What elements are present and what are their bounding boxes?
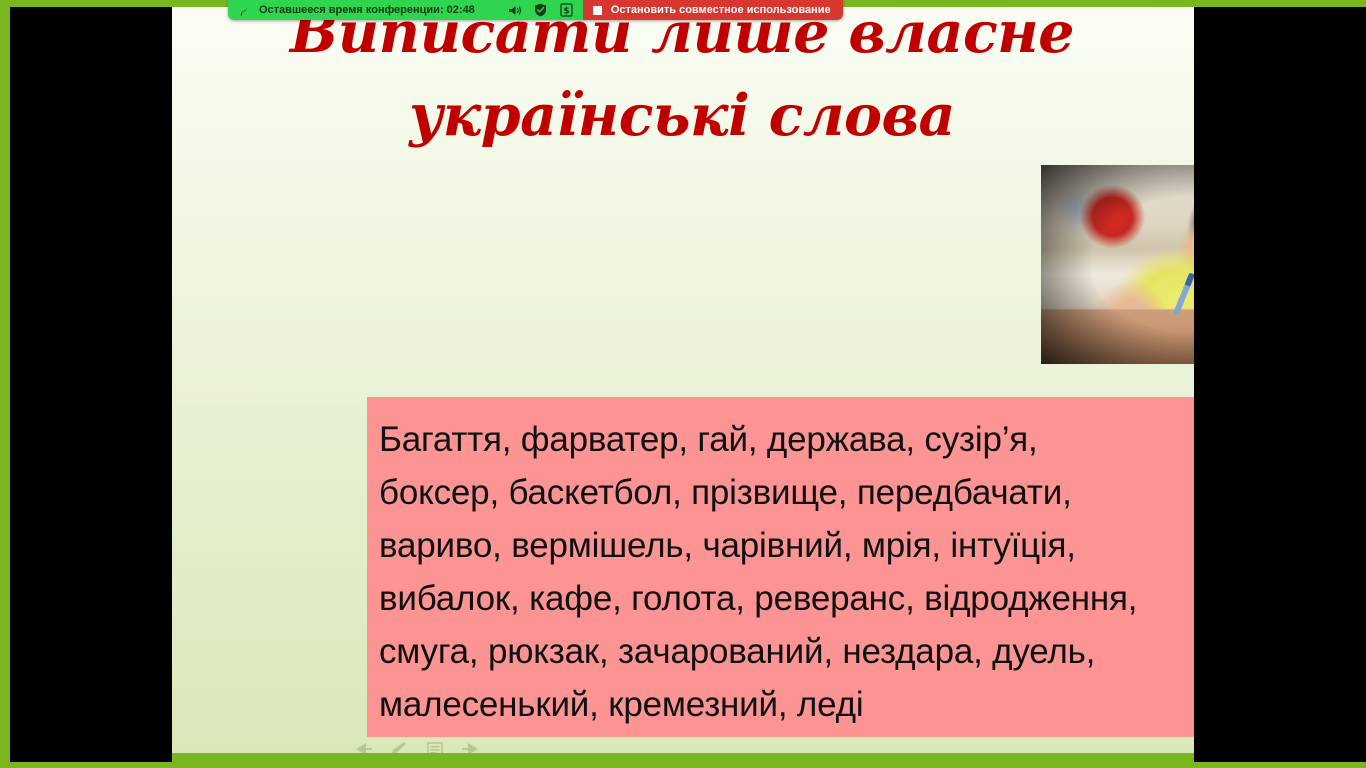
leaf-icon <box>238 4 250 17</box>
presentation-slide[interactable]: Виписати лише власне українські слова Ба… <box>172 0 1194 762</box>
cost-dollar-icon[interactable]: $ <box>558 3 575 18</box>
classroom-girl-writing-photo <box>1041 165 1194 364</box>
slide-accent-bar <box>172 753 1194 762</box>
slide-title: Виписати лише власне українські слова <box>232 0 1132 157</box>
word-list-panel: Багаття, фарватер, гай, держава, сузір’я… <box>367 397 1194 737</box>
screen-share-border-left <box>0 0 10 768</box>
svg-text:$: $ <box>563 7 569 17</box>
photo-image-content <box>1041 165 1194 364</box>
meeting-status-bar: Оставшееся время конференции: 02:48 $ <box>228 0 583 20</box>
stop-square-icon <box>593 6 602 15</box>
screen-share-border-bottom <box>0 762 1366 768</box>
screen-share-session: Виписати лише власне українські слова Ба… <box>0 0 1366 768</box>
stop-share-label: Остановить совместное использование <box>611 4 831 16</box>
stop-share-button[interactable]: Остановить совместное использование <box>583 0 843 20</box>
screen-share-toolbar[interactable]: Оставшееся время конференции: 02:48 $ <box>228 0 843 20</box>
word-list-text: Багаття, фарватер, гай, держава, сузір’я… <box>379 413 1194 731</box>
security-shield-icon[interactable] <box>532 3 549 18</box>
meeting-timer-label: Оставшееся время конференции: 02:48 <box>259 4 497 16</box>
volume-icon[interactable] <box>506 3 523 18</box>
